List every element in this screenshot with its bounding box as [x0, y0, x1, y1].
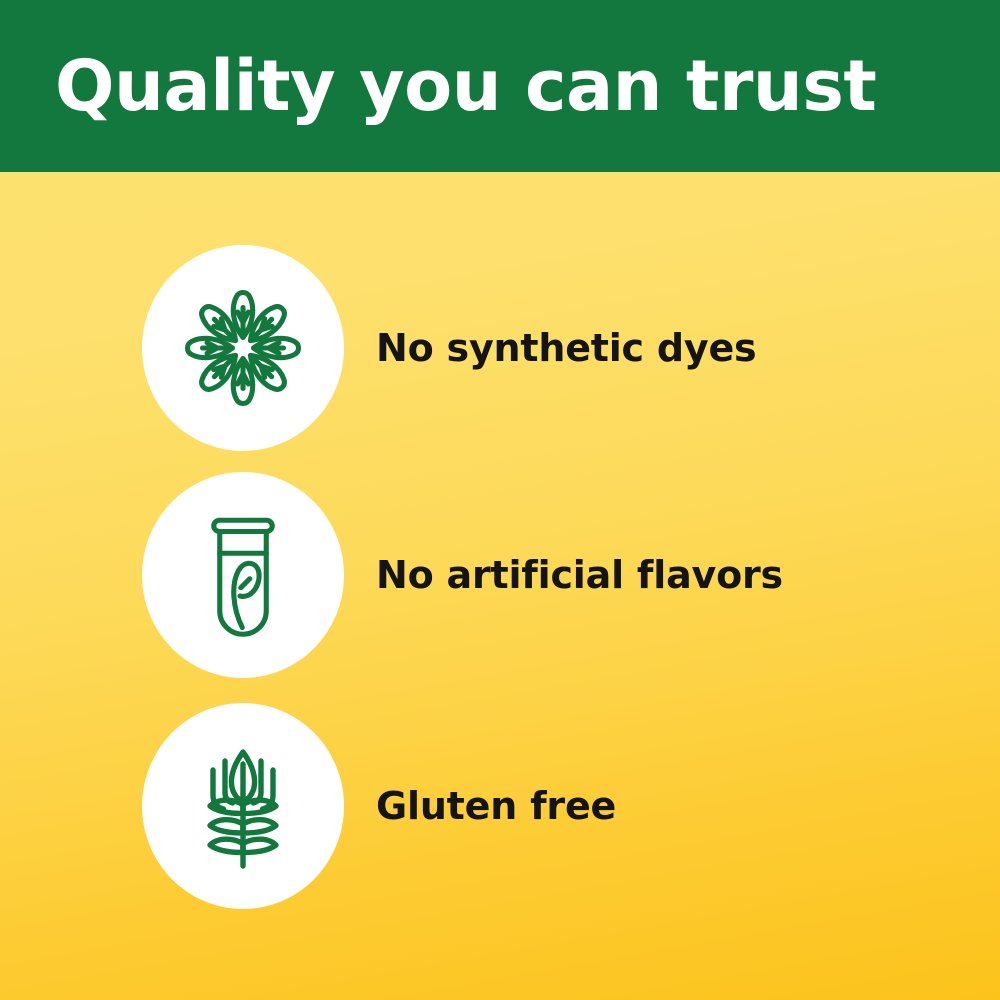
- feature-row: Gluten free: [0, 703, 1000, 909]
- feature-row: No synthetic dyes: [0, 245, 1000, 451]
- feature-icon-badge: [142, 245, 344, 451]
- feature-icon-badge: [142, 703, 344, 909]
- feature-label: No synthetic dyes: [376, 326, 756, 370]
- feature-list: No synthetic dyes No artificial flavors: [0, 172, 1000, 1000]
- quality-claims-poster: Quality you can trust: [0, 0, 1000, 1000]
- page-title: Quality you can trust: [55, 51, 876, 121]
- feature-icon-badge: [142, 472, 344, 678]
- flower-petals-icon: [168, 273, 318, 423]
- test-tube-leaf-icon: [168, 500, 318, 650]
- feature-row: No artificial flavors: [0, 472, 1000, 678]
- feature-label: Gluten free: [376, 784, 616, 828]
- feature-label: No artificial flavors: [376, 553, 783, 597]
- wheat-stalk-icon: [168, 731, 318, 881]
- header-band: Quality you can trust: [0, 0, 1000, 172]
